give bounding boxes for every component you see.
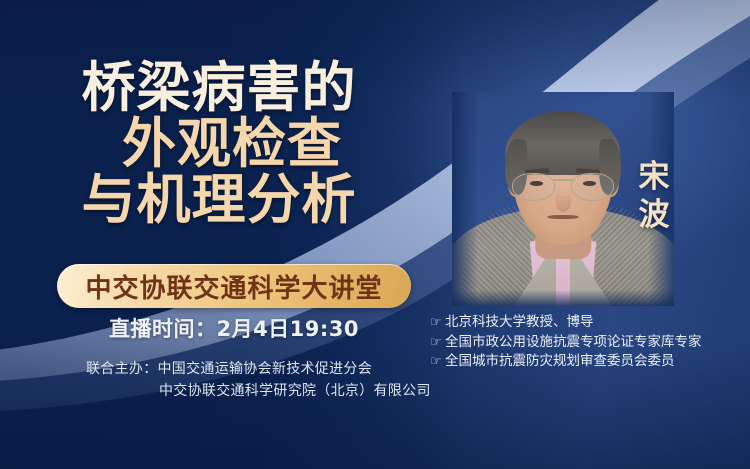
speaker-name: 宋 波: [636, 158, 672, 234]
pointing-hand-icon: ☞: [430, 352, 445, 372]
credential-row: ☞ 全国城市抗震防灾规划审查委员会委员: [430, 352, 702, 372]
credential-row: ☞ 全国市政公用设施抗震专项论证专家库专家: [430, 333, 702, 353]
credential-text: 北京科技大学教授、博导: [445, 313, 594, 333]
pointing-hand-icon: ☞: [430, 313, 445, 333]
live-time-text: 直播时间：2月4日19:30: [0, 313, 468, 343]
webinar-poster: 桥梁病害的 外观检查 与机理分析 中交协联交通科学大讲堂 直播时间：2月4日19…: [0, 0, 750, 469]
credential-text: 全国城市抗震防灾规划审查委员会委员: [445, 352, 675, 372]
speaker-name-char-2: 波: [636, 196, 672, 234]
page-title: 桥梁病害的 外观检查 与机理分析: [0, 60, 430, 228]
organizer-line-1: 联合主办：中国交通运输协会新技术促进分会: [86, 358, 431, 380]
credential-text: 全国市政公用设施抗震专项论证专家库专家: [445, 333, 702, 353]
speaker-name-char-1: 宋: [636, 158, 672, 196]
title-line-3: 与机理分析: [0, 172, 430, 228]
series-banner: 中交协联交通科学大讲堂: [57, 264, 411, 308]
series-banner-label: 中交协联交通科学大讲堂: [85, 268, 382, 305]
organizer-line-2: 中交协联交通科学研究院（北京）有限公司: [86, 380, 431, 402]
title-line-1: 桥梁病害的: [0, 60, 430, 116]
pointing-hand-icon: ☞: [430, 333, 445, 353]
title-line-2: 外观检查: [0, 116, 430, 172]
speaker-credentials: ☞ 北京科技大学教授、博导 ☞ 全国市政公用设施抗震专项论证专家库专家 ☞ 全国…: [430, 313, 702, 372]
credential-row: ☞ 北京科技大学教授、博导: [430, 313, 702, 333]
organizers-block: 联合主办：中国交通运输协会新技术促进分会 中交协联交通科学研究院（北京）有限公司: [86, 358, 431, 402]
